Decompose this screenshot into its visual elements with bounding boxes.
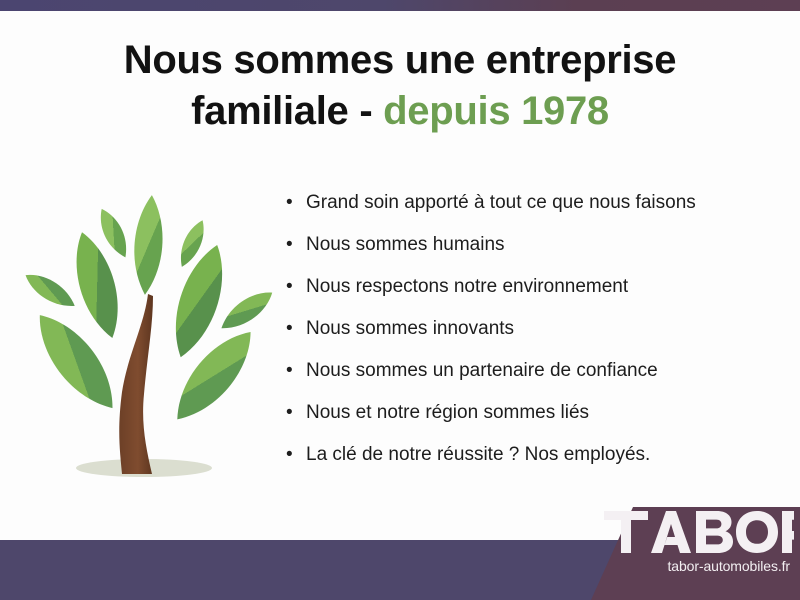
- title-line-2: familiale - depuis 1978: [0, 87, 800, 136]
- bullet-marker-icon: •: [286, 277, 306, 296]
- bullet-marker-icon: •: [286, 445, 306, 464]
- bullet-marker-icon: •: [286, 193, 306, 212]
- title-accent-depuis: depuis 1978: [383, 89, 609, 133]
- bullet-text: Nous respectons notre environnement: [306, 277, 628, 296]
- bullet-text: Nous sommes humains: [306, 235, 505, 254]
- title-line-1: Nous sommes une entreprise: [0, 36, 800, 85]
- list-item: • Nous respectons notre environnement: [286, 277, 786, 319]
- tree-trunk: [119, 294, 153, 474]
- tabor-logo[interactable]: [604, 511, 794, 553]
- bullet-text: Grand soin apporté à tout ce que nous fa…: [306, 193, 696, 212]
- bullet-marker-icon: •: [286, 403, 306, 422]
- list-item: • Nous sommes un partenaire de confiance: [286, 361, 786, 403]
- bullet-text: Nous et notre région sommes liés: [306, 403, 589, 422]
- bullet-marker-icon: •: [286, 235, 306, 254]
- list-item: • Nous sommes innovants: [286, 319, 786, 361]
- bullet-marker-icon: •: [286, 361, 306, 380]
- bullet-marker-icon: •: [286, 319, 306, 338]
- bullet-text: La clé de notre réussite ? Nos employés.: [306, 445, 650, 464]
- title-line-2-plain: familiale -: [191, 89, 383, 133]
- bullet-text: Nous sommes innovants: [306, 319, 514, 338]
- logo-url-text[interactable]: tabor-automobiles.fr: [604, 558, 794, 574]
- bullet-list: • Grand soin apporté à tout ce que nous …: [286, 193, 786, 487]
- tree-leaf-top-center: [131, 194, 166, 296]
- bullet-text: Nous sommes un partenaire de confiance: [306, 361, 658, 380]
- tree-leaf-far-right: [216, 284, 276, 336]
- list-item: • La clé de notre réussite ? Nos employé…: [286, 445, 786, 487]
- list-item: • Grand soin apporté à tout ce que nous …: [286, 193, 786, 235]
- slide: Nous sommes une entreprise familiale - d…: [0, 0, 800, 600]
- page-title: Nous sommes une entreprise familiale - d…: [0, 36, 800, 136]
- list-item: • Nous et notre région sommes liés: [286, 403, 786, 445]
- tree-illustration: [16, 186, 276, 486]
- tree-leaf-far-left: [21, 267, 80, 314]
- list-item: • Nous sommes humains: [286, 235, 786, 277]
- top-accent-bar: [0, 0, 800, 11]
